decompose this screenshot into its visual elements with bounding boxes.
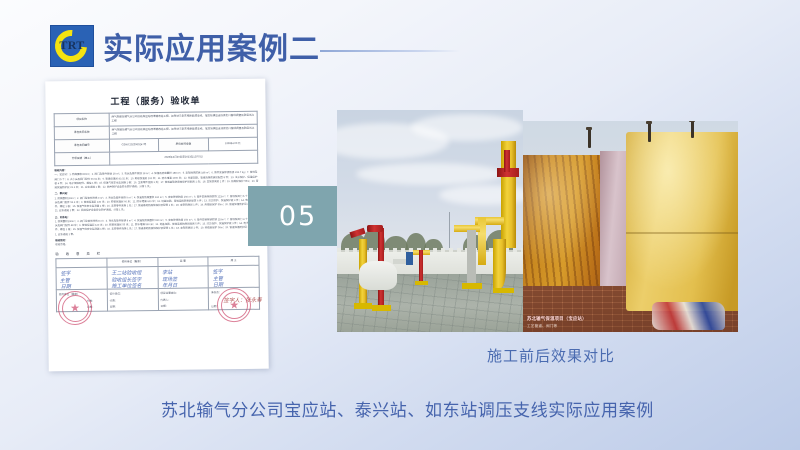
support-column <box>467 230 476 283</box>
title-underline <box>320 50 460 52</box>
logo-text: TRT <box>50 38 94 53</box>
document-field-table: 项目名称 西气东输及输气分公司沿线高压站场增输改造工程、如东站三条东电新能源支线… <box>54 111 259 166</box>
photo-caption: 苏北输气保温项目（宝应站） <box>527 316 587 322</box>
pipe-riser-red <box>419 250 424 283</box>
footer-date: 日期： <box>110 305 118 309</box>
main-caption: 苏北输气分公司宝应站、泰兴站、如东站调压支线实际应用案例 <box>161 396 654 421</box>
signature-cell: 承包商： 签字人：张永寿 日期： <box>209 288 260 311</box>
footer-rep: 代表： <box>110 299 118 303</box>
footer-unit: 设计单位： <box>110 292 123 296</box>
signature-section-header: 验 收 意 见 栏 <box>55 249 259 256</box>
signature-cell: 签字 主管 日期 <box>208 266 259 289</box>
pipe-base <box>493 288 513 294</box>
table-row: 使用单位（盖章） 代表： 日期： 设计单位： 代表： 日期： 项目监理单位： 代… <box>56 288 259 312</box>
new-coated-pipe-after <box>626 132 738 311</box>
signature-cell: 李站 现场签 年月日 <box>158 266 209 289</box>
photo-caption-sub: 工艺管道、阀门等 <box>527 324 557 329</box>
trt-logo-icon: TRT <box>50 25 94 67</box>
field-label: 承包合同编号 <box>54 139 109 153</box>
cloth-on-ground <box>652 302 725 329</box>
gas-station-photo <box>337 110 523 332</box>
footer-rep: 代表人： <box>160 298 170 302</box>
pipe-base <box>415 281 428 285</box>
bolt-icon <box>648 123 651 142</box>
document-body: 验收内容： 一、宝应站：1. 防腐面积330m²；2. 阀门及管件除锈 18 m… <box>54 167 259 248</box>
body-text: 1. 防腐面积190m²；2. 阀门及管件除锈 8 m²；3. 弯头及管件除锈 … <box>55 218 258 236</box>
field-value: 2023年4月20日至2023年12月7日 <box>109 150 257 165</box>
signature-cell: 使用单位（盖章） 代表： 日期： <box>56 289 107 312</box>
bolt-icon <box>588 129 591 148</box>
footer-unit: 项目监理单位： <box>160 291 178 295</box>
body-heading: 验收结论： <box>55 237 259 244</box>
signature-cell: 王二站验收组 验收组长签字 施工单位签名 <box>107 267 158 290</box>
table-row: 分项目期（施工） 2023年4月20日至2023年12月7日 <box>55 150 258 165</box>
section-number: 05 <box>279 201 325 232</box>
white-vessel <box>359 261 396 290</box>
field-label: 分项目期（施工） <box>55 152 110 166</box>
body-text: 验收合格。 <box>55 243 68 246</box>
document-title: 工程（服务）验收单 <box>53 93 257 108</box>
field-label: 项目名称 <box>54 113 109 127</box>
pipe-elbow <box>493 239 506 288</box>
blue-valve <box>406 252 413 265</box>
pipe-stub-red <box>504 150 510 172</box>
field-label: 承包合同金额 <box>159 138 209 152</box>
slide-header: TRT 实际应用案例二 <box>50 24 320 68</box>
pipe-base <box>354 303 373 309</box>
bolt-icon <box>691 121 694 138</box>
slide-root: TRT 实际应用案例二 工程（服务）验收单 项目名称 西气东输及输气分公司沿线高… <box>0 0 800 450</box>
acceptance-document-image: 工程（服务）验收单 项目名称 西气东输及输气分公司沿线高压站场增输改造工程、如东… <box>45 79 269 372</box>
field-value: GSWT2023060247号 <box>109 138 159 152</box>
pipe-base <box>372 305 391 311</box>
pipe-riser <box>478 217 485 266</box>
official-stamp <box>217 288 251 322</box>
pipe-seam <box>626 232 738 234</box>
body-text: 1. 防腐面积200m²；2. 阀门及管件除锈 9 m²；3. 弯头及管件除锈 … <box>55 194 258 212</box>
pipe-coating-comparison-photo: 苏北输气保温项目（宝应站） 工艺管道、阀门等 <box>523 121 738 332</box>
body-text: 一、宝应站：1. 防腐面积330m²；2. 阀门及管件除锈 18 m²；3. 弯… <box>54 171 258 189</box>
pipe-crossbar <box>367 225 384 232</box>
signature-cell: 签字 主管 日期 <box>56 267 107 290</box>
pipe-base <box>462 283 482 289</box>
official-stamp <box>58 291 92 325</box>
page-title: 实际应用案例二 <box>103 24 320 68</box>
table-row: 签字 主管 日期 王二站验收组 验收组长签字 施工单位签名 李站 现场签 年月日 <box>56 266 259 290</box>
field-value: 199984.00 元 <box>208 137 258 151</box>
signature-table: 使用单位（盖章） 监 理 施 工 签字 主管 日期 王二站验收组 验收组长签字 … <box>55 256 260 312</box>
comparison-caption: 施工前后效果对比 <box>487 345 615 366</box>
field-label: 承包合同名称 <box>54 126 109 140</box>
signature-cell: 项目监理单位： 代表人： 日期： <box>158 288 209 311</box>
footer-date: 日期： <box>160 304 168 308</box>
signature-cell: 设计单位： 代表： 日期： <box>107 289 158 312</box>
